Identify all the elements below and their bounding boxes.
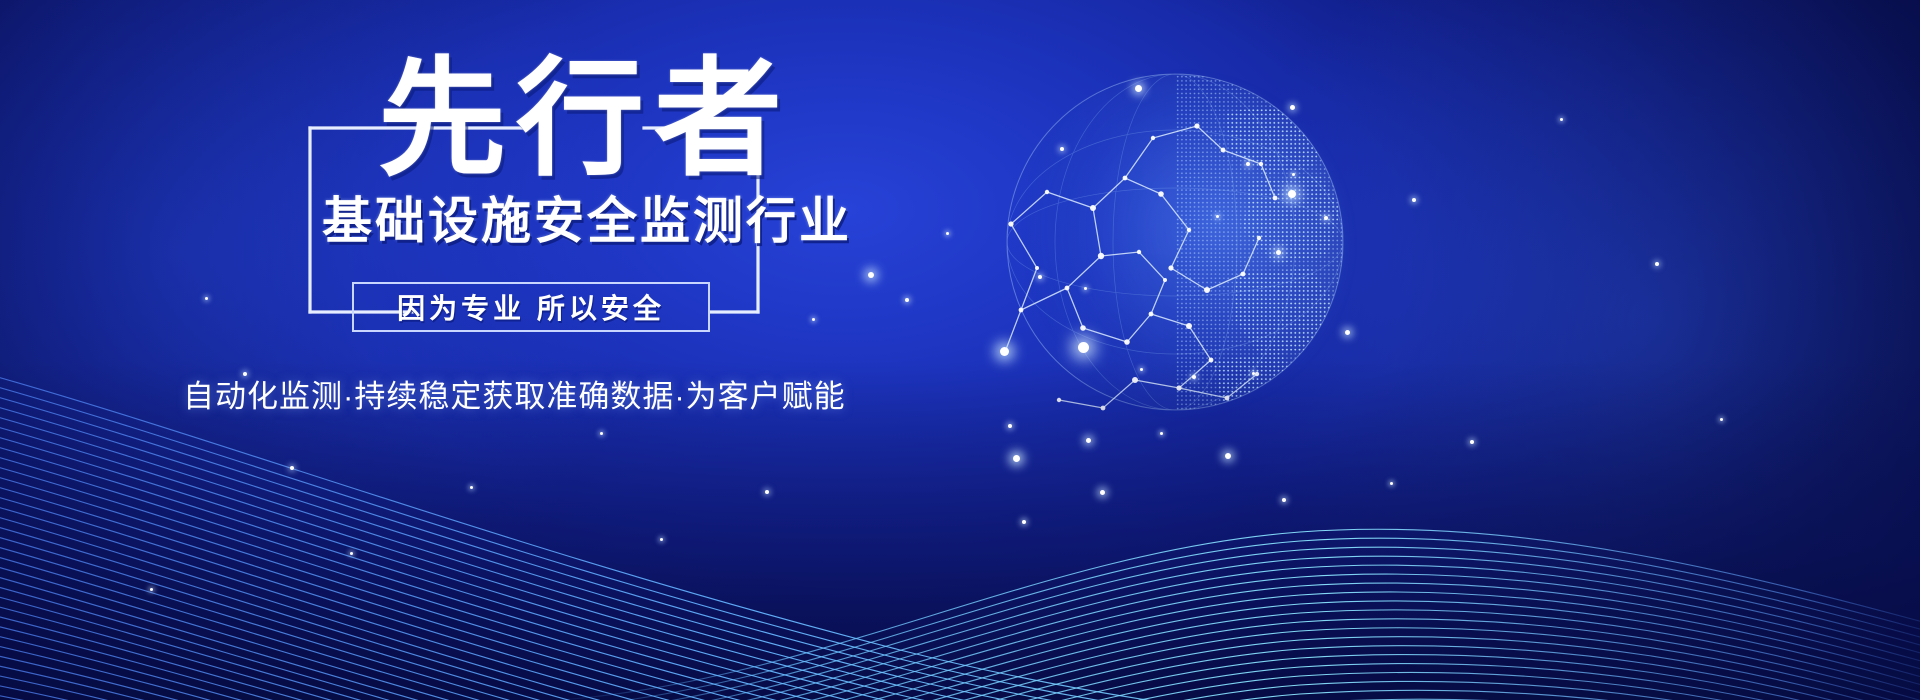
slogan-box: 因为专业 所以安全 bbox=[352, 282, 710, 332]
page-title: 先行者 bbox=[378, 56, 792, 184]
tagline-text: 自动化监测·持续稳定获取准确数据·为客户赋能 bbox=[183, 371, 846, 416]
banner-content: 先行者 基础设施安全监测行业 因为专业 所以安全 自动化监测·持续稳定获取准确数… bbox=[0, 0, 1920, 700]
slogan-text: 因为专业 所以安全 bbox=[397, 287, 665, 327]
page-subtitle: 基础设施安全监测行业 bbox=[322, 196, 852, 246]
hero-banner: 先行者 基础设施安全监测行业 因为专业 所以安全 自动化监测·持续稳定获取准确数… bbox=[0, 0, 1920, 700]
